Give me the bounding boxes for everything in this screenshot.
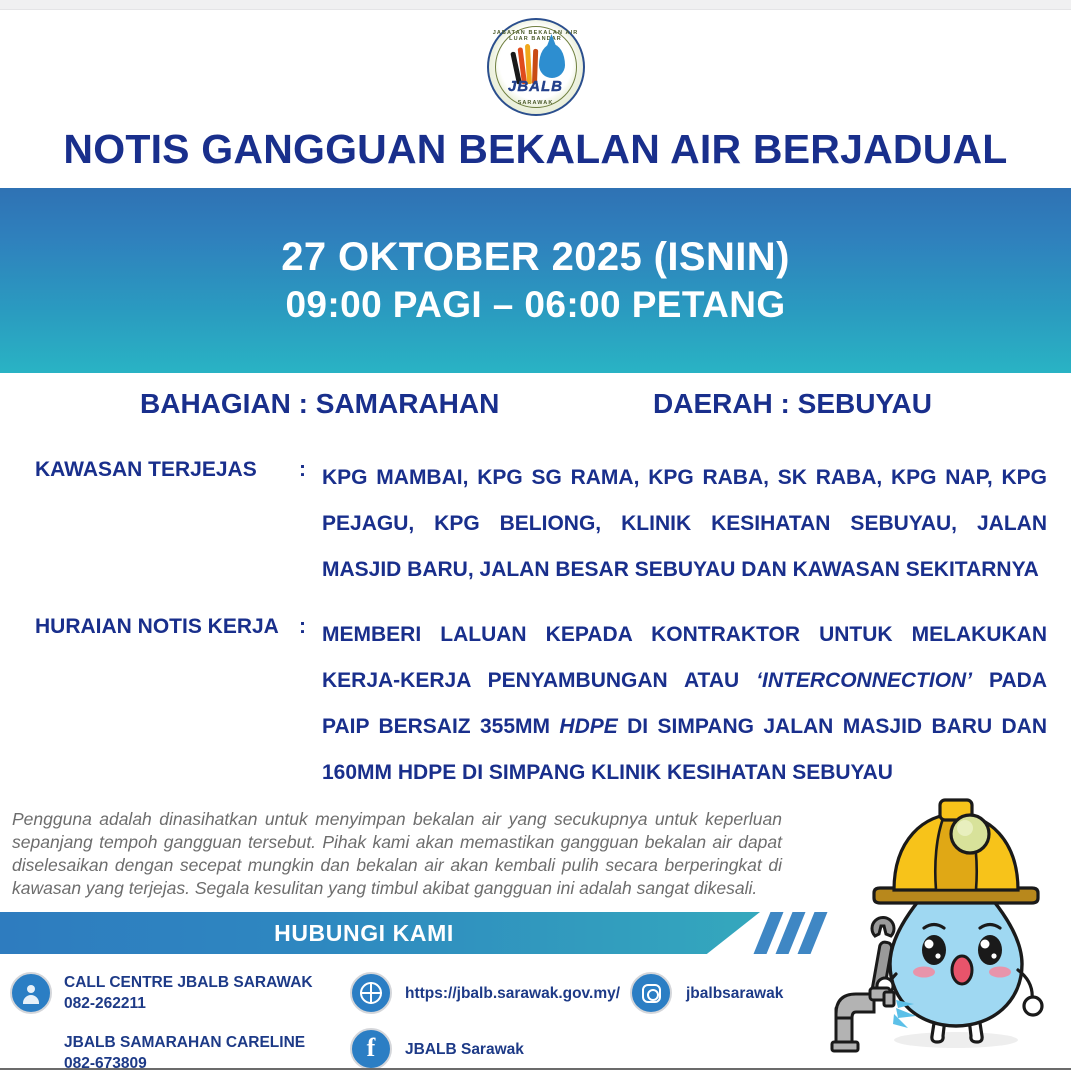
bottom-fill	[0, 1070, 1071, 1080]
logo-wordmark: JBALB	[489, 78, 583, 95]
work-description-label: HURAIAN NOTIS KERJA	[35, 615, 279, 639]
website-link[interactable]: https://jbalb.sarawak.gov.my/	[405, 983, 620, 1004]
top-strip	[0, 0, 1071, 10]
water-drop-icon	[539, 44, 565, 78]
call-centre-phone[interactable]: 082-262211	[64, 993, 313, 1014]
date-time-banner: 27 OKTOBER 2025 (ISNIN) 09:00 PAGI – 06:…	[0, 188, 1071, 373]
notice-time-range: 09:00 PAGI – 06:00 PETANG	[285, 284, 785, 326]
facebook-handle[interactable]: JBALB Sarawak	[405, 1039, 524, 1060]
work-text-hdpe: HDPE	[559, 715, 617, 738]
notice-date: 27 OKTOBER 2025 (ISNIN)	[281, 235, 790, 280]
globe-icon[interactable]	[350, 972, 392, 1014]
call-centre-block: CALL CENTRE JBALB SARAWAK 082-262211	[64, 972, 313, 1014]
work-text-interconnection: ‘INTERCONNECTION’	[756, 669, 972, 692]
logo-container: JABATAN BEKALAN AIR LUAR BANDAR JBALB SA…	[0, 16, 1071, 118]
contact-banner-title: HUBUNGI KAMI	[274, 920, 454, 947]
district-label: DAERAH : SEBUYAU	[653, 388, 932, 420]
jbalb-logo: JABATAN BEKALAN AIR LUAR BANDAR JBALB SA…	[487, 18, 585, 116]
water-disruption-notice-poster: JABATAN BEKALAN AIR LUAR BANDAR JBALB SA…	[0, 0, 1071, 1080]
division-label: BAHAGIAN : SAMARAHAN	[140, 388, 499, 420]
work-description-colon: :	[299, 615, 306, 639]
work-description-value: MEMBERI LALUAN KEPADA KONTRAKTOR UNTUK M…	[322, 612, 1047, 796]
page-title: NOTIS GANGGUAN BEKALAN AIR BERJADUAL	[0, 126, 1071, 173]
instagram-icon[interactable]	[630, 972, 672, 1014]
careline-name: JBALB SAMARAHAN CARELINE	[64, 1032, 305, 1053]
call-centre-name: CALL CENTRE JBALB SARAWAK	[64, 972, 313, 993]
location-row: BAHAGIAN : SAMARAHAN DAERAH : SEBUYAU	[0, 388, 1071, 428]
contact-banner: HUBUNGI KAMI	[0, 912, 760, 954]
affected-areas-label: KAWASAN TERJEJAS	[35, 458, 257, 482]
instagram-handle[interactable]: jbalbsarawak	[686, 983, 783, 1004]
advisory-paragraph: Pengguna adalah dinasihatkan untuk menyi…	[12, 808, 782, 900]
facebook-icon[interactable]: f	[350, 1028, 392, 1070]
logo-arc-bottom-text: SARAWAK	[489, 100, 583, 106]
user-icon	[10, 972, 52, 1014]
water-droplet-mascot-icon	[828, 792, 1068, 1070]
affected-areas-value: KPG MAMBAI, KPG SG RAMA, KPG RABA, SK RA…	[322, 455, 1047, 593]
affected-areas-colon: :	[299, 458, 306, 482]
